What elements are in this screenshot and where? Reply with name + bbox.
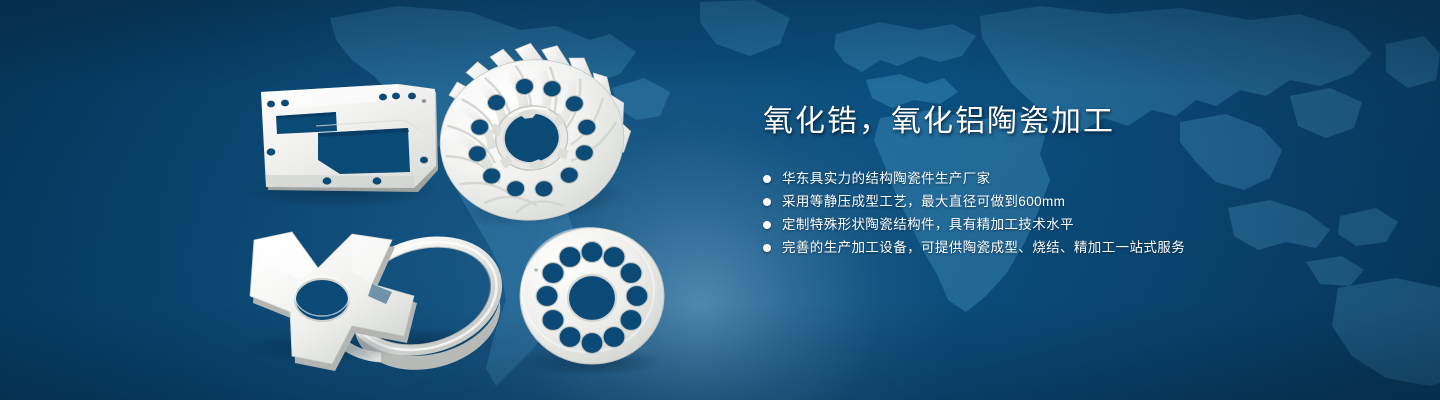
feature-list: 华东具实力的结构陶瓷件生产厂家 采用等静压成型工艺，最大直径可做到600mm 定… (763, 167, 1383, 259)
ceramic-processing-banner: 氧化锆，氧化铝陶瓷加工 华东具实力的结构陶瓷件生产厂家 采用等静压成型工艺，最大… (0, 0, 1440, 400)
page-title: 氧化锆，氧化铝陶瓷加工 (763, 104, 1383, 140)
ceramic-products-image (0, 0, 720, 400)
ceramic-plate (240, 84, 440, 208)
list-item: 完善的生产加工设备，可提供陶瓷成型、烧结、精加工一站式服务 (763, 236, 1383, 259)
bullet-dot-icon (763, 221, 771, 229)
feature-text: 采用等静压成型工艺，最大直径可做到600mm (782, 190, 1065, 213)
banner-copy: 氧化锆，氧化铝陶瓷加工 华东具实力的结构陶瓷件生产厂家 采用等静压成型工艺，最大… (763, 104, 1383, 259)
list-item: 定制特殊形状陶瓷结构件，具有精加工技术水平 (763, 213, 1383, 236)
ceramic-perforated-disc (520, 228, 664, 376)
ceramic-cross-plate (242, 232, 417, 371)
bullet-dot-icon (763, 198, 771, 206)
ceramic-impeller (428, 31, 642, 236)
bullet-dot-icon (763, 244, 771, 252)
list-item: 采用等静压成型工艺，最大直径可做到600mm (763, 190, 1383, 213)
feature-text: 定制特殊形状陶瓷结构件，具有精加工技术水平 (782, 213, 1074, 236)
bullet-dot-icon (763, 175, 771, 183)
feature-text: 华东具实力的结构陶瓷件生产厂家 (782, 167, 991, 190)
feature-text: 完善的生产加工设备，可提供陶瓷成型、烧结、精加工一站式服务 (782, 236, 1185, 259)
list-item: 华东具实力的结构陶瓷件生产厂家 (763, 167, 1383, 190)
